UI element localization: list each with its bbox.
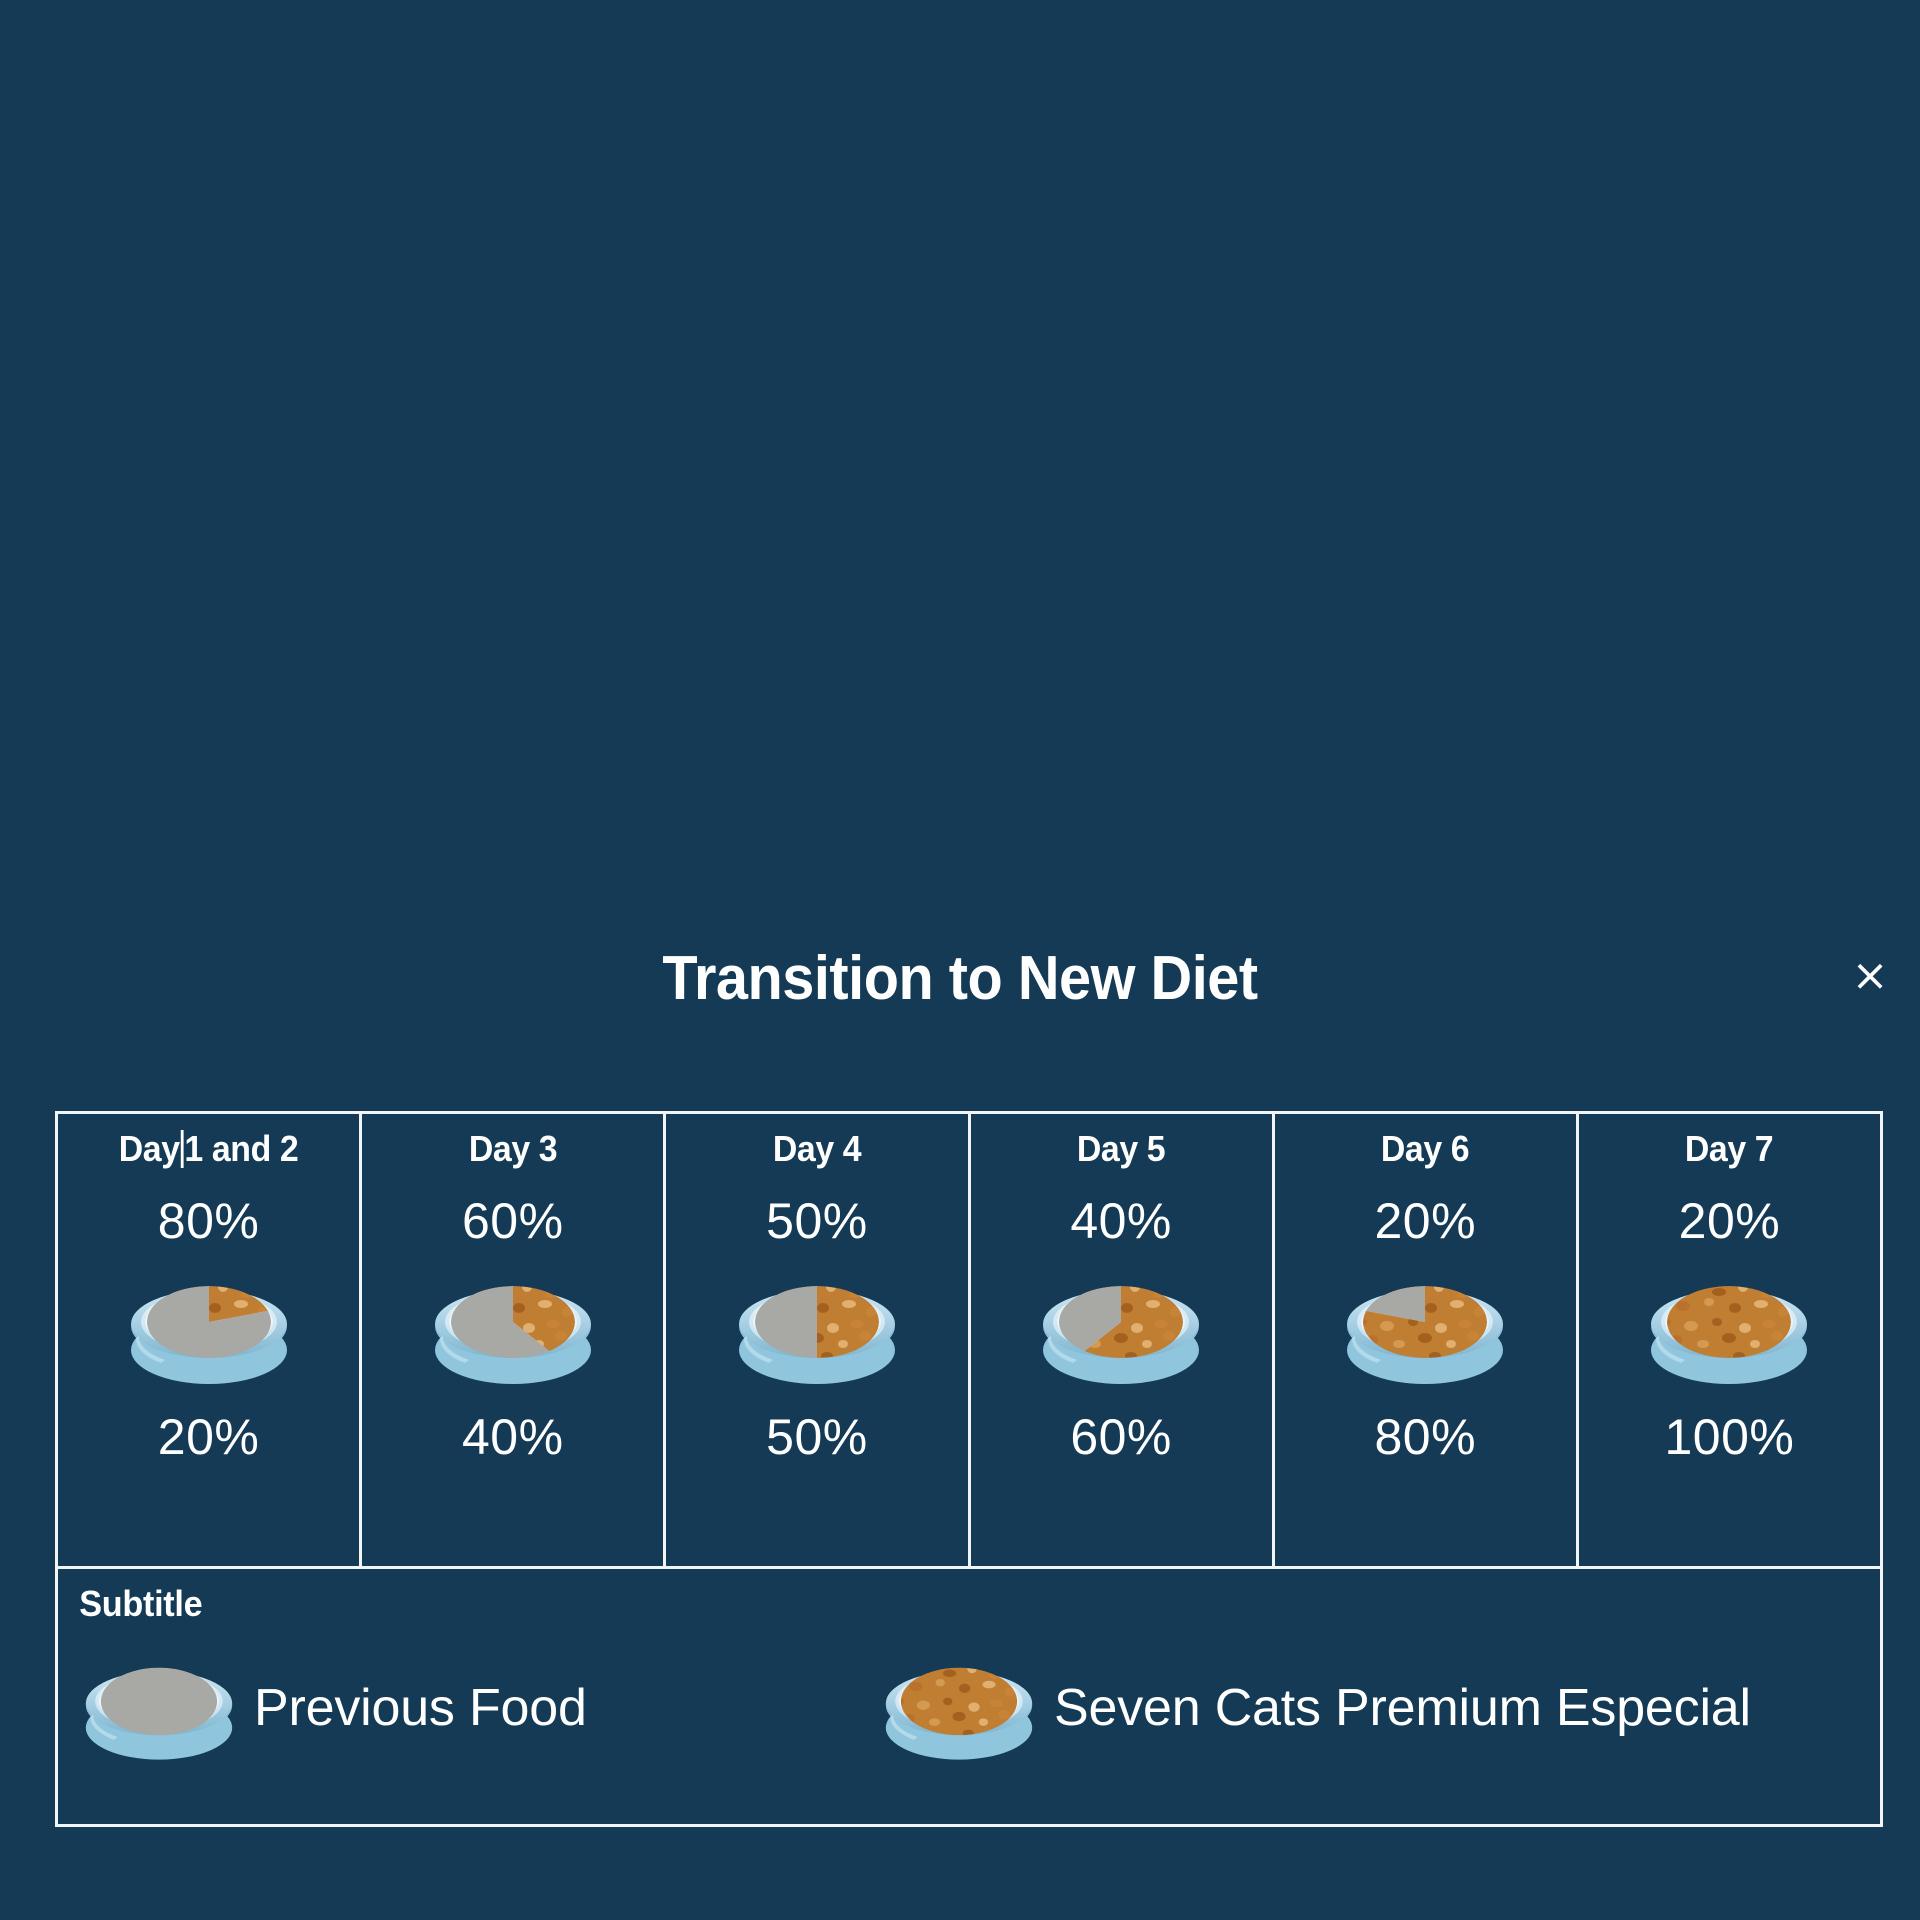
legend-item: Previous Food [76,1647,876,1769]
day-label: Day 3 [469,1128,557,1170]
new-food-percent: 50% [766,1408,868,1466]
legend-label: Seven Cats Premium Especial [1054,1678,1751,1738]
legend-item: Seven Cats Premium Especial [876,1647,1751,1769]
new-food-percent: 100% [1665,1408,1795,1466]
new-food-percent: 20% [158,1408,260,1466]
previous-food-bowl-icon [76,1647,242,1769]
day-column-5: Day 620%80% [1275,1114,1579,1566]
new-food-percent: 40% [462,1408,564,1466]
day-label-tail: 1 and 2 [184,1128,298,1169]
legend-section: Subtitle Previous FoodSeven Cats Premium… [58,1569,1880,1824]
previous-food-percent: 20% [1679,1192,1781,1250]
table-row-days: Day1 and 280%20%Day 360%40%Day 450%50%Da… [58,1114,1880,1569]
food-bowl-icon [729,1264,905,1394]
day-label: Day 6 [1381,1128,1469,1170]
previous-food-percent: 20% [1374,1192,1476,1250]
food-bowl-icon [425,1264,601,1394]
day-column-1: Day1 and 280%20% [58,1114,362,1566]
day-column-2: Day 360%40% [362,1114,666,1566]
text-caret [181,1130,184,1168]
new-food-percent: 80% [1374,1408,1476,1466]
food-bowl-icon [121,1264,297,1394]
legend-items: Previous FoodSeven Cats Premium Especial [76,1647,1880,1769]
food-bowl-icon [1337,1264,1513,1394]
previous-food-percent: 50% [766,1192,868,1250]
day-label: Day 5 [1077,1128,1165,1170]
day-column-4: Day 540%60% [971,1114,1275,1566]
day-label: Day1 and 2 [119,1128,299,1170]
diet-transition-table: Day1 and 280%20%Day 360%40%Day 450%50%Da… [55,1111,1883,1827]
food-bowl-icon [1033,1264,1209,1394]
previous-food-percent: 60% [462,1192,564,1250]
previous-food-percent: 80% [158,1192,260,1250]
day-label: Day 4 [773,1128,861,1170]
transition-diet-dialog: × Transition to New Diet Day1 and 280%20… [0,448,1920,1408]
food-bowl-icon [1641,1264,1817,1394]
day-column-6: Day 720%100% [1579,1114,1880,1566]
page-title: Transition to New Diet [67,943,1853,1014]
new-food-bowl-icon [876,1647,1042,1769]
previous-food-percent: 40% [1070,1192,1172,1250]
day-column-3: Day 450%50% [666,1114,970,1566]
legend-subtitle: Subtitle [79,1583,202,1625]
day-label: Day 7 [1685,1128,1773,1170]
new-food-percent: 60% [1070,1408,1172,1466]
legend-label: Previous Food [254,1678,587,1738]
day-label-head: Day [119,1128,180,1169]
